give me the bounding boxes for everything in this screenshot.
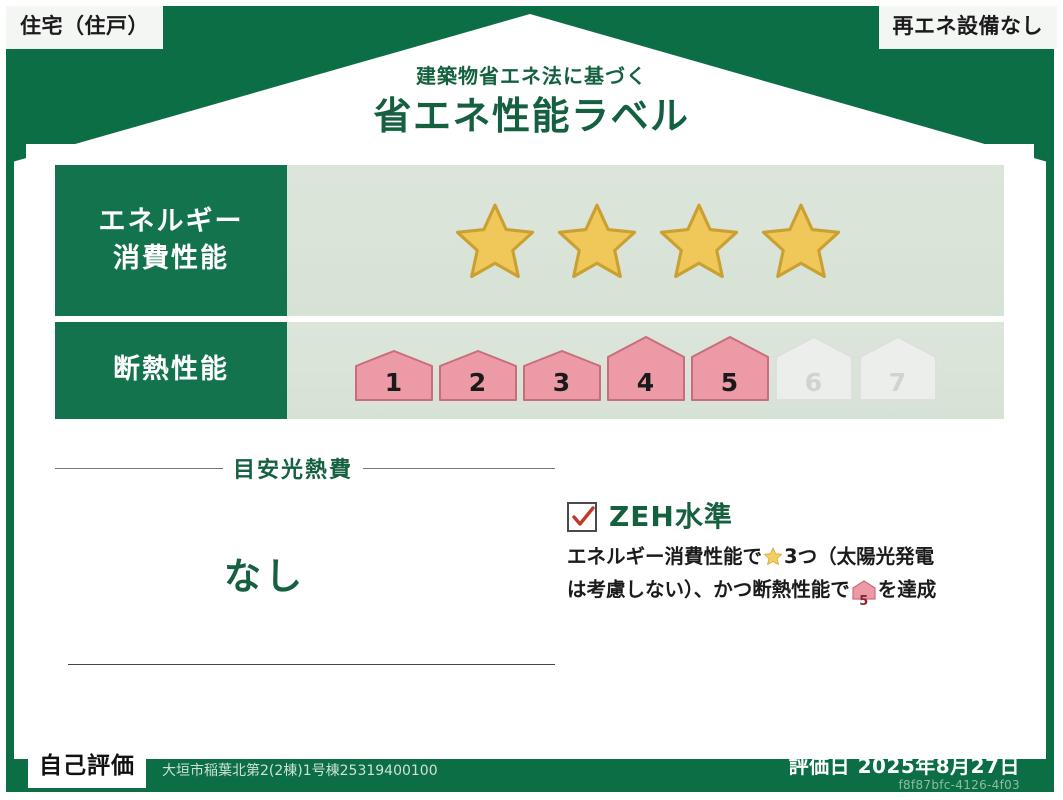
insulation-performance-label: 断熱性能 — [55, 322, 287, 419]
star-icon — [657, 201, 741, 281]
energy-label-line1: エネルギー — [99, 204, 244, 240]
title-main: 省エネ性能ラベル — [0, 93, 1063, 141]
insulation-level-1: 1 — [354, 349, 434, 401]
evaluation-type-badge: 自己評価 — [28, 747, 146, 788]
evaluation-date-value: 2025年8月27日 — [858, 754, 1020, 778]
utility-cost-value: なし — [55, 546, 475, 600]
insulation-level-5: 5 — [690, 335, 770, 401]
utility-cost-heading-text: 目安光熱費 — [233, 452, 353, 484]
insulation-performance-value: 1234567 — [287, 322, 1004, 419]
zeh-title: ZEH水準 — [609, 503, 733, 531]
zeh-desc-part3: を達成 — [878, 578, 937, 601]
heading-rule-right — [363, 468, 555, 469]
zeh-desc-star-count: 3つ（太陽光発電 — [784, 545, 934, 568]
insulation-level-number: 4 — [606, 370, 686, 395]
star-icon — [759, 201, 843, 281]
utility-cost-section: 目安光熱費 なし — [55, 444, 555, 699]
insulation-scale-strip: 1234567 — [354, 335, 938, 401]
energy-performance-row: エネルギー 消費性能 — [55, 165, 1004, 316]
utility-cost-bottom-rule — [68, 664, 555, 665]
zeh-heading: ZEH水準 — [567, 502, 1004, 532]
energy-performance-value — [287, 165, 1004, 316]
inline-house-number: 5 — [852, 595, 876, 608]
insulation-level-number: 2 — [438, 370, 518, 395]
zeh-desc-part2: は考慮しない）、かつ断熱性能で — [567, 578, 850, 601]
insulation-level-number: 3 — [522, 370, 602, 395]
insulation-level-2: 2 — [438, 349, 518, 401]
energy-performance-label: エネルギー 消費性能 — [55, 165, 287, 316]
evaluation-date-label: 評価日 — [789, 754, 851, 778]
property-identifier: 大垣市稲葉北第2(2棟)1号棟25319400100 — [162, 760, 438, 780]
insulation-label-line1: 断熱性能 — [113, 352, 229, 388]
document-id: f8f87bfc-4126-4f03 — [898, 778, 1020, 792]
star-icon — [555, 201, 639, 281]
star-rating-strip — [453, 201, 843, 281]
zeh-section: ZEH水準 エネルギー消費性能で 3つ（太陽光発電 は考慮しない）、かつ断熱性能… — [555, 444, 1004, 699]
label-content-card: エネルギー 消費性能 断熱性能 1234567 — [26, 144, 1034, 722]
performance-rows: エネルギー 消費性能 断熱性能 1234567 — [55, 165, 1004, 419]
evaluation-date: 評価日 2025年8月27日 — [789, 750, 1020, 779]
zeh-checkbox — [567, 502, 597, 532]
insulation-level-number: 6 — [774, 370, 854, 395]
utility-cost-heading: 目安光熱費 — [55, 452, 555, 484]
insulation-level-number: 7 — [858, 370, 938, 395]
star-icon — [453, 201, 537, 281]
energy-performance-label: 住宅（住戸） 再エネ設備なし 建築物省エネ法に基づく 省エネ性能ラベル エネルギ… — [0, 0, 1063, 800]
energy-label-line2: 消費性能 — [113, 241, 229, 277]
title-subtitle: 建築物省エネ法に基づく — [0, 64, 1063, 88]
label-footer: 自己評価 大垣市稲葉北第2(2棟)1号棟25319400100 評価日 2025… — [14, 738, 1046, 790]
heading-rule-left — [55, 468, 223, 469]
insulation-level-number: 5 — [690, 370, 770, 395]
zeh-desc-part1: エネルギー消費性能で — [567, 545, 762, 568]
renewable-energy-badge: 再エネ設備なし — [879, 6, 1058, 49]
insulation-level-6: 6 — [774, 335, 854, 401]
insulation-level-7: 7 — [858, 335, 938, 401]
insulation-level-3: 3 — [522, 349, 602, 401]
check-icon — [571, 505, 595, 529]
insulation-level-4: 4 — [606, 335, 686, 401]
insulation-level-number: 1 — [354, 370, 434, 395]
insulation-performance-row: 断熱性能 1234567 — [55, 322, 1004, 419]
lower-section: 目安光熱費 なし ZEH水準 エネルギー消費性能で — [55, 444, 1004, 699]
inline-house-badge: 5 — [852, 579, 876, 609]
zeh-description: エネルギー消費性能で 3つ（太陽光発電 は考慮しない）、かつ断熱性能で 5 を達… — [567, 542, 997, 609]
building-type-badge: 住宅（住戸） — [6, 6, 163, 49]
inline-star-icon — [763, 545, 783, 575]
label-title-block: 建築物省エネ法に基づく 省エネ性能ラベル — [0, 64, 1063, 141]
